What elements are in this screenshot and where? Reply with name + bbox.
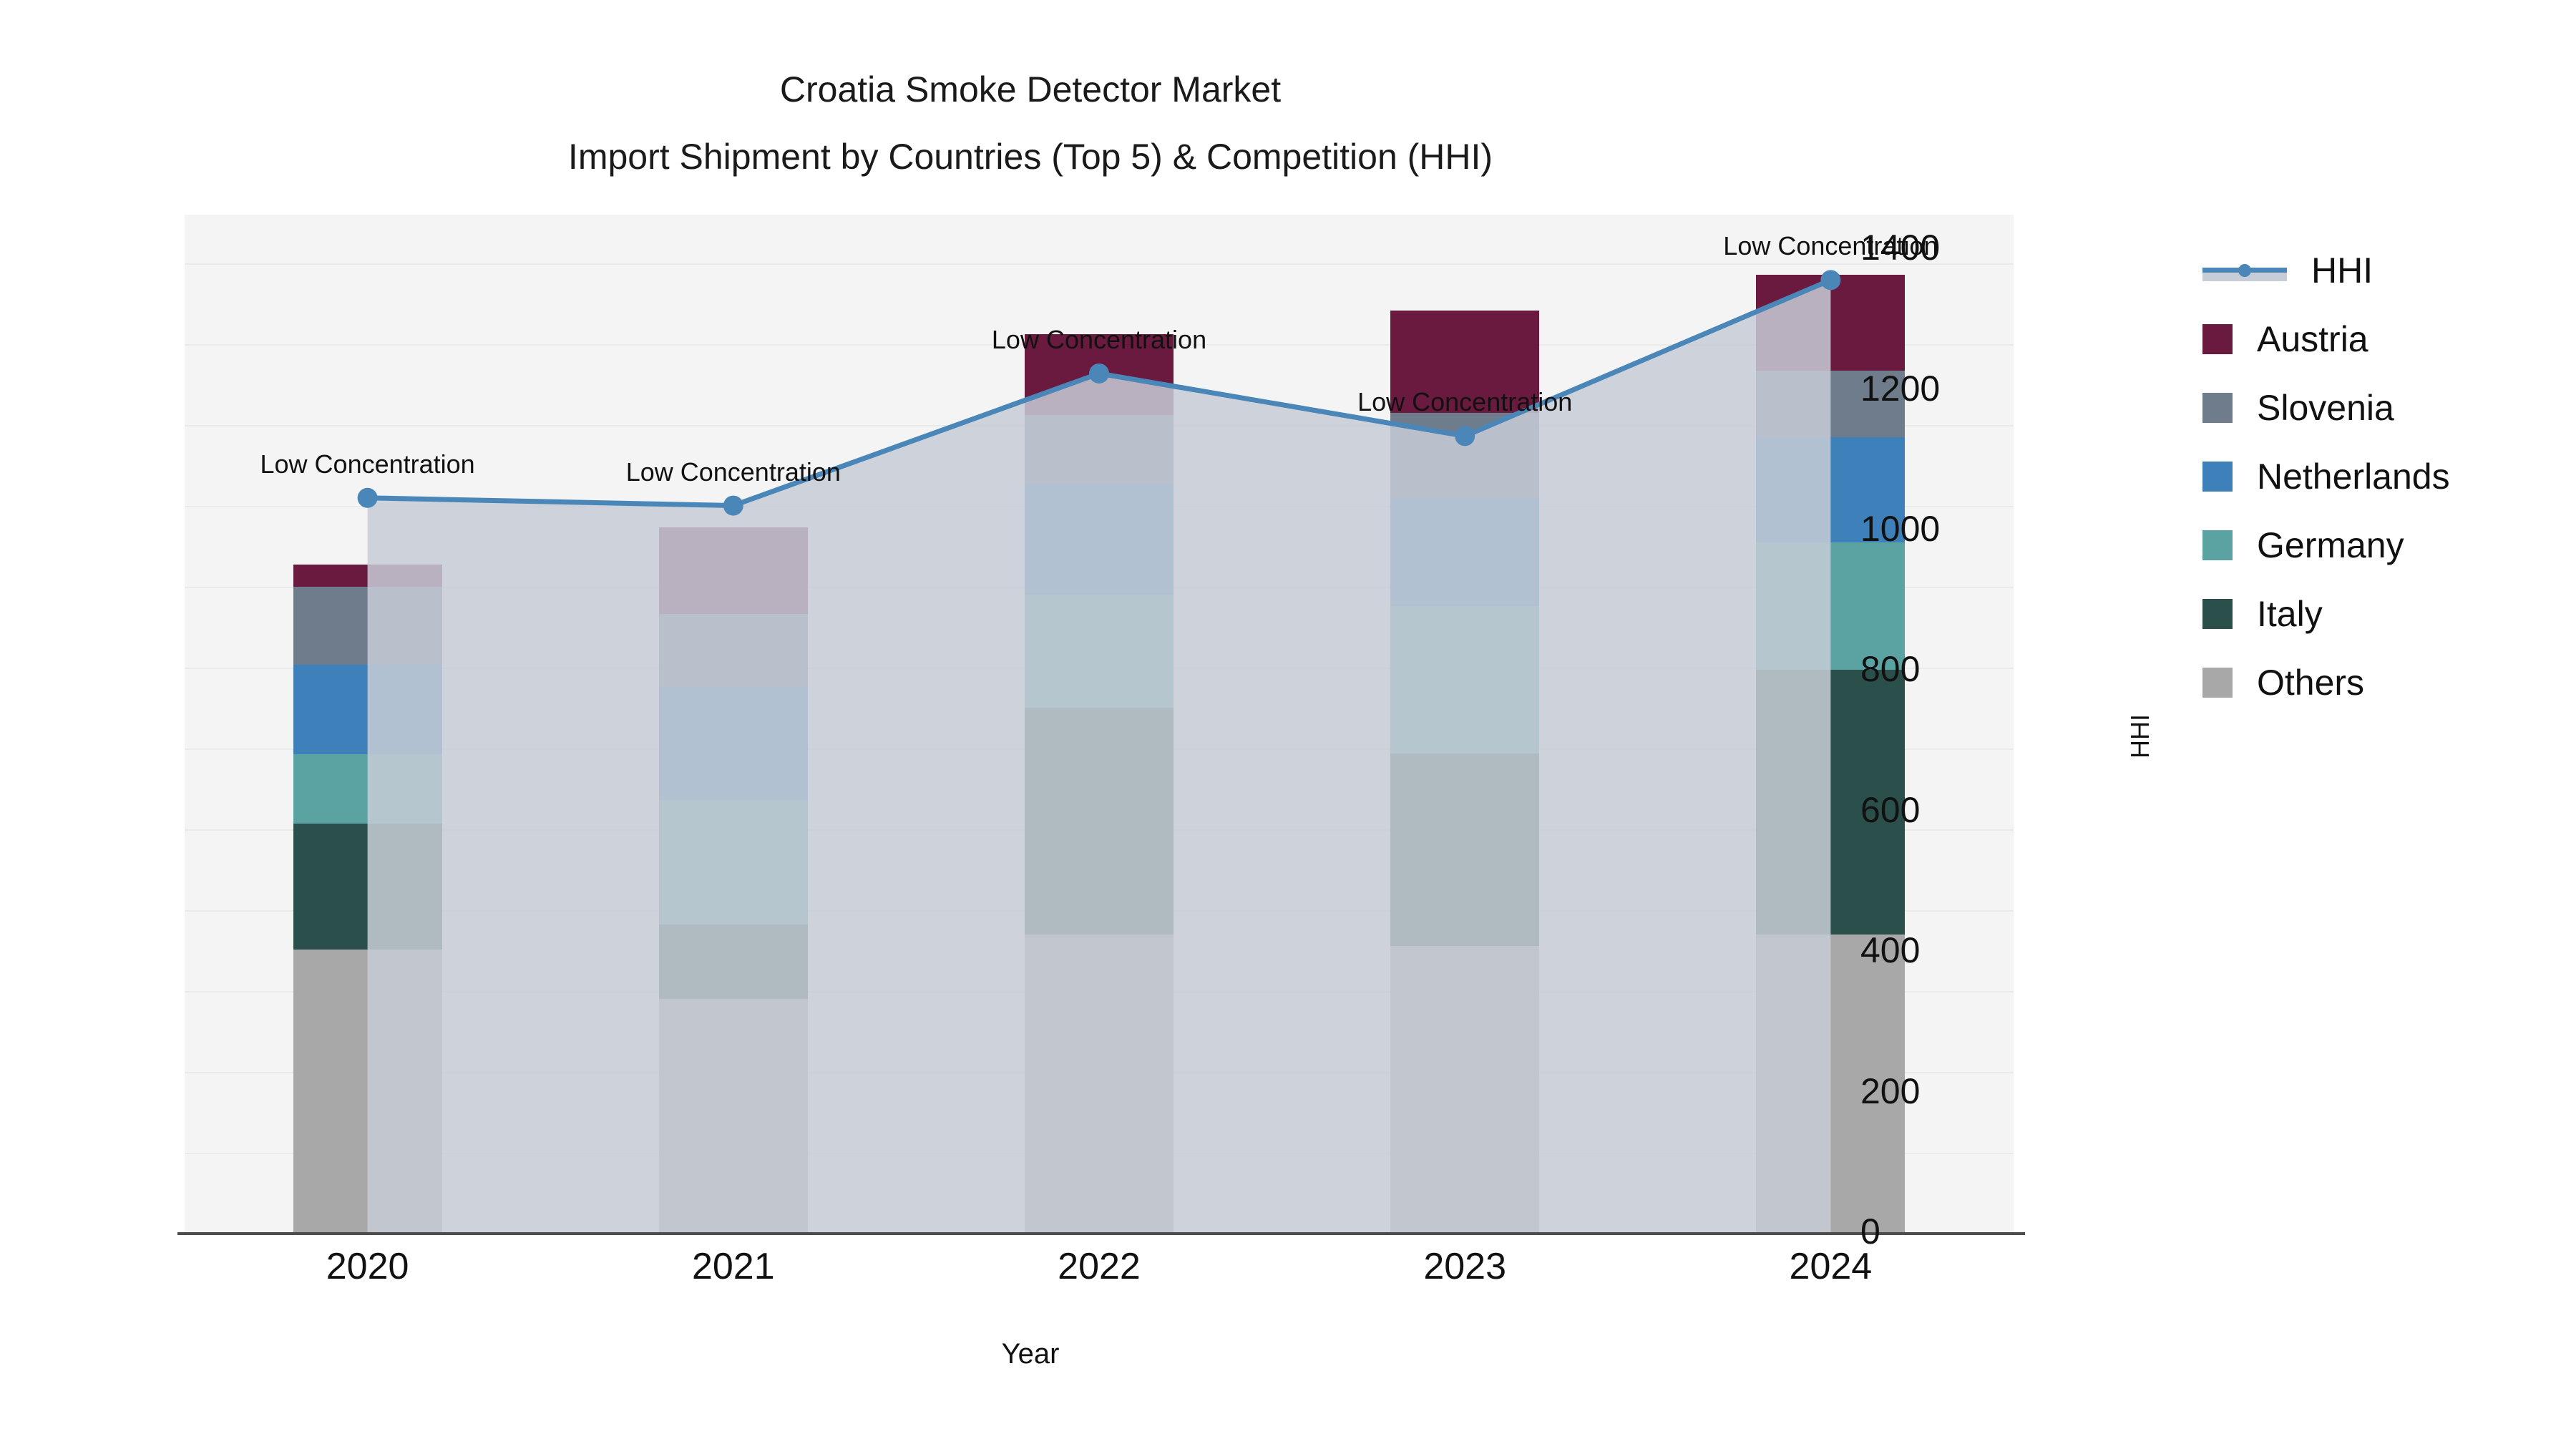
bar-stack[interactable] — [293, 215, 442, 1234]
bar-segment-germany[interactable] — [1390, 606, 1539, 753]
x-axis-line — [177, 1232, 2025, 1235]
x-axis-label: Year — [0, 1338, 2061, 1370]
chart-title-line-1: Croatia Smoke Detector Market — [0, 56, 2061, 123]
legend-label: Italy — [2257, 593, 2323, 635]
bar-segment-slovenia[interactable] — [1025, 415, 1174, 484]
legend-swatch-icon — [2202, 668, 2233, 698]
bar-segment-slovenia[interactable] — [659, 614, 808, 687]
legend-swatch-icon — [2202, 530, 2233, 560]
bar-segment-others[interactable] — [293, 950, 442, 1234]
chart-canvas: Croatia Smoke Detector Market Import Shi… — [0, 0, 2576, 1449]
legend-swatch-icon — [2202, 324, 2233, 354]
bar-segment-italy[interactable] — [1390, 753, 1539, 946]
legend-item-hhi[interactable]: HHI — [2202, 236, 2450, 305]
legend-item-austria[interactable]: Austria — [2202, 305, 2450, 374]
chart-title: Croatia Smoke Detector Market Import Shi… — [0, 56, 2061, 190]
bar-segment-others[interactable] — [659, 999, 808, 1234]
bar-segment-italy[interactable] — [659, 924, 808, 999]
bar-segment-germany[interactable] — [659, 800, 808, 924]
bar-segment-germany[interactable] — [293, 754, 442, 824]
legend-label: Germany — [2257, 525, 2404, 566]
x-axis-tick-label: 2023 — [1322, 1245, 1608, 1288]
legend-item-italy[interactable]: Italy — [2202, 580, 2450, 648]
legend-item-netherlands[interactable]: Netherlands — [2202, 442, 2450, 511]
annotation-low-concentration: Low Concentration — [260, 449, 475, 479]
legend-label: HHI — [2311, 250, 2373, 291]
x-axis-tick-label: 2021 — [590, 1245, 877, 1288]
legend-label: Others — [2257, 662, 2364, 703]
bar-stack[interactable] — [659, 215, 808, 1234]
legend-line-marker-icon — [2202, 255, 2287, 286]
y-axis-right-tick-label: 200 — [1860, 1070, 2046, 1112]
annotation-low-concentration: Low Concentration — [992, 325, 1206, 355]
y-axis-right-tick-label: 1000 — [1860, 508, 2046, 550]
bar-segment-others[interactable] — [1025, 935, 1174, 1234]
legend-item-others[interactable]: Others — [2202, 648, 2450, 717]
legend-swatch-icon — [2202, 462, 2233, 492]
plot-area — [185, 215, 2014, 1234]
y-axis-right-tick-label: 800 — [1860, 648, 2046, 690]
bar-stack[interactable] — [1025, 215, 1174, 1234]
bar-segment-netherlands[interactable] — [1025, 484, 1174, 595]
bar-segment-italy[interactable] — [1025, 708, 1174, 934]
bar-segment-netherlands[interactable] — [293, 665, 442, 753]
legend-line-dot — [2238, 264, 2251, 277]
y-axis-right-tick-label: 1200 — [1860, 368, 2046, 409]
bar-segment-italy[interactable] — [293, 824, 442, 950]
legend-swatch-icon — [2202, 393, 2233, 423]
legend-label: Austria — [2257, 318, 2368, 360]
x-axis-tick-label: 2020 — [225, 1245, 511, 1288]
y-axis-right-label: HHI — [2125, 714, 2155, 758]
bar-segment-slovenia[interactable] — [293, 587, 442, 665]
bar-segment-others[interactable] — [1390, 946, 1539, 1234]
bar-segment-austria[interactable] — [293, 565, 442, 587]
legend-label: Netherlands — [2257, 456, 2450, 497]
x-axis-tick-label: 2024 — [1687, 1245, 1974, 1288]
chart-legend: HHIAustriaSloveniaNetherlandsGermanyItal… — [2202, 236, 2450, 717]
legend-swatch-icon — [2202, 599, 2233, 629]
bar-segment-netherlands[interactable] — [659, 687, 808, 800]
annotation-low-concentration: Low Concentration — [626, 457, 841, 487]
y-axis-right-tick-label: 400 — [1860, 930, 2046, 971]
bar-segment-slovenia[interactable] — [1390, 413, 1539, 498]
legend-label: Slovenia — [2257, 387, 2394, 429]
annotation-low-concentration: Low Concentration — [1357, 387, 1572, 417]
bar-segment-austria[interactable] — [659, 527, 808, 614]
chart-title-line-2: Import Shipment by Countries (Top 5) & C… — [0, 123, 2061, 190]
bar-stack[interactable] — [1390, 215, 1539, 1234]
bar-segment-austria[interactable] — [1756, 275, 1905, 371]
bar-segment-netherlands[interactable] — [1390, 498, 1539, 606]
legend-item-slovenia[interactable]: Slovenia — [2202, 374, 2450, 442]
legend-item-germany[interactable]: Germany — [2202, 511, 2450, 580]
bar-segment-germany[interactable] — [1025, 595, 1174, 708]
y-axis-right-tick-label: 600 — [1860, 789, 2046, 831]
x-axis-tick-label: 2022 — [956, 1245, 1242, 1288]
annotation-low-concentration: Low Concentration — [1723, 231, 1938, 261]
